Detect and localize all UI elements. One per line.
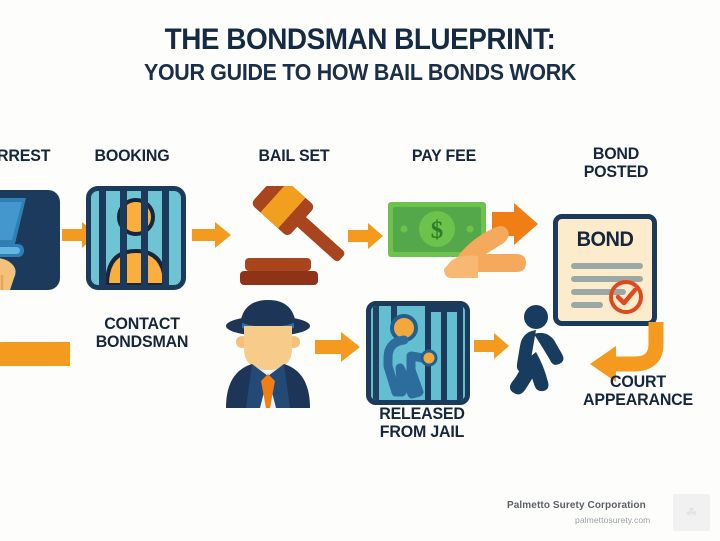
step-label-contact-bondsman: CONTACT BONDSMAN bbox=[76, 315, 208, 351]
footer-website: palmettosurety.com bbox=[575, 515, 650, 525]
title-block: THE BONDSMAN BLUEPRINT: YOUR GUIDE TO HO… bbox=[0, 24, 720, 86]
step-label-bond-posted: BOND POSTED bbox=[561, 145, 670, 181]
page-subtitle: YOUR GUIDE TO HOW BAIL BONDS WORK bbox=[25, 60, 695, 86]
bond-document-heading: BOND bbox=[560, 228, 649, 252]
jail-cell-icon bbox=[86, 186, 186, 290]
cash-in-hand-icon: $ bbox=[380, 190, 540, 290]
infographic-canvas: THE BONDSMAN BLUEPRINT: YOUR GUIDE TO HO… bbox=[0, 0, 720, 541]
step-label-court-appearance: COURT APPEARANCE bbox=[565, 373, 712, 409]
step-label-bail-set: BAIL SET bbox=[242, 147, 345, 165]
logo-glyph: ☘ bbox=[686, 505, 698, 521]
gavel-icon bbox=[240, 186, 352, 290]
svg-text:$: $ bbox=[431, 217, 444, 244]
arrow-return-to-contact-bondsman bbox=[0, 332, 70, 387]
bond-document-line bbox=[571, 263, 643, 269]
footer-company-name: Palmetto Surety Corporation bbox=[507, 500, 646, 511]
arrow-bail-set-to-pay-fee bbox=[348, 222, 384, 255]
arrow-bondsman-to-released bbox=[315, 330, 361, 369]
check-seal-icon bbox=[606, 277, 646, 317]
bondsman-icon bbox=[216, 296, 320, 408]
step-label-pay-fee: PAY FEE bbox=[392, 147, 495, 165]
step-label-released-from-jail: RELEASED FROM JAIL bbox=[362, 405, 482, 441]
page-title: THE BONDSMAN BLUEPRINT: bbox=[25, 24, 695, 56]
handcuffs-icon bbox=[0, 190, 60, 290]
jail-release-icon bbox=[366, 301, 470, 405]
step-label-booking: BOOKING bbox=[80, 147, 183, 165]
step-label-arrest: ARREST bbox=[0, 147, 65, 165]
arrow-booking-to-bail-set bbox=[192, 220, 232, 255]
palmetto-logo-watermark: ☘ bbox=[673, 494, 710, 531]
